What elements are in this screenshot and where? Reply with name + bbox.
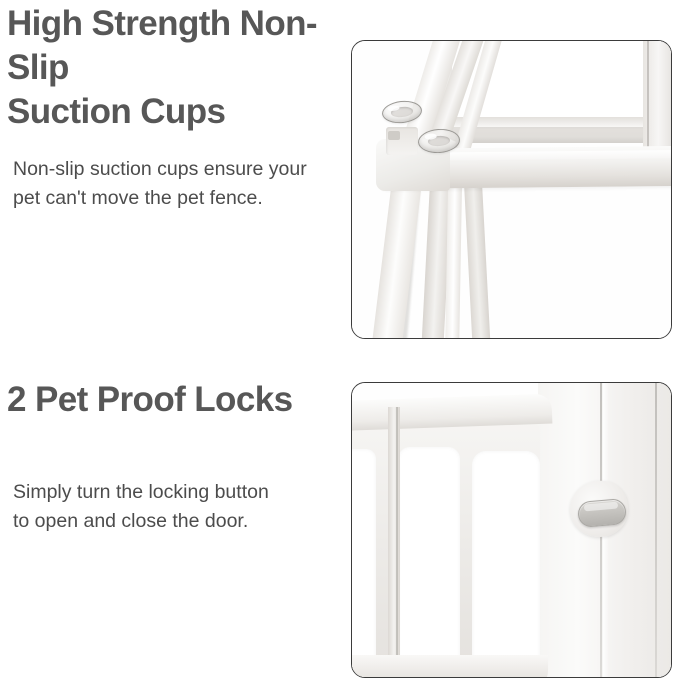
fence-door-bottom-rail <box>352 655 548 677</box>
product-feature-infographic: High Strength Non-Slip Suction Cups Non-… <box>0 0 679 683</box>
feature-1-heading: High Strength Non-Slip Suction Cups <box>7 2 352 134</box>
fence-leg-middle-2 <box>445 185 462 338</box>
fence-door-mullion-seam <box>396 407 398 677</box>
feature-2-photo-panel <box>351 382 672 678</box>
fence-door-pane-left <box>352 449 376 671</box>
fence-door-pane-right <box>472 451 540 673</box>
suction-cup-scene <box>352 41 671 338</box>
fence-door-mullion <box>388 407 400 677</box>
fence-leg-right <box>464 183 490 338</box>
fence-door-pane-middle <box>398 447 460 675</box>
fence-right-post-seam <box>647 41 649 147</box>
feature-1-description: Non-slip suction cups ensure your pet ca… <box>13 155 343 213</box>
feature-2-description: Simply turn the locking button to open a… <box>13 478 343 536</box>
feature-2-heading: 2 Pet Proof Locks <box>7 378 352 422</box>
fence-corner-slot <box>388 131 400 140</box>
fence-leg-left <box>371 179 421 338</box>
fence-door-seam-2 <box>655 383 657 677</box>
feature-1-photo-panel <box>351 40 672 339</box>
door-lock-scene <box>352 383 671 677</box>
